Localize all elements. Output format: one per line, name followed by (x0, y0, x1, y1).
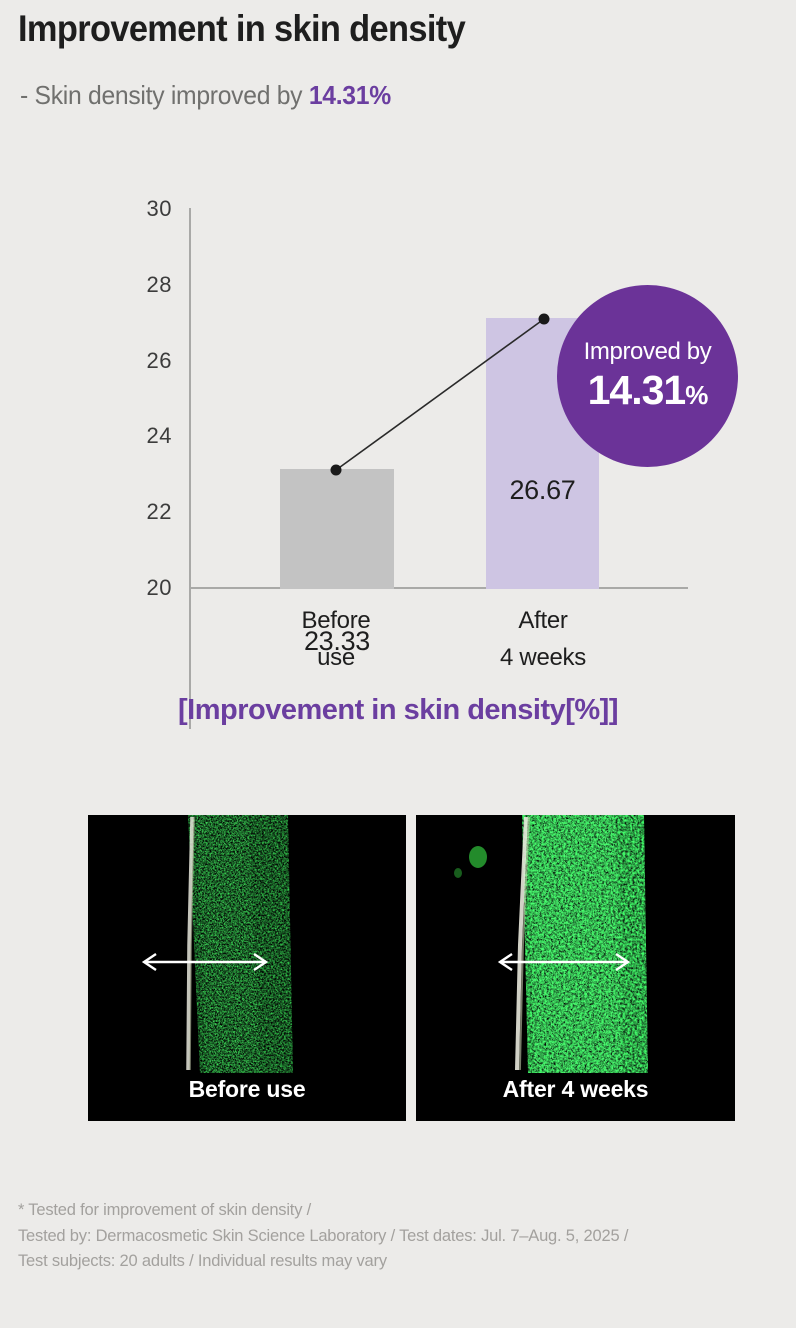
footnote-line-3: Test subjects: 20 adults / Individual re… (18, 1249, 778, 1275)
panel-after-4-weeks: After 4 weeks (416, 815, 735, 1121)
x-label-after-line2: 4 weeks (462, 639, 624, 676)
data-point-before (331, 465, 342, 476)
footnote-line-2: Tested by: Dermacosmetic Skin Science La… (18, 1224, 778, 1250)
x-label-after-line1: After (462, 602, 624, 639)
page-subtitle: - Skin density improved by 14.31% (20, 80, 391, 111)
badge-value-row: 14.31% (588, 368, 708, 413)
x-label-before-line1: Before (256, 602, 416, 639)
x-label-before-line2: use (256, 639, 416, 676)
bar-chart: 30 28 26 24 22 20 23.33 26.67 Improved b… (0, 140, 796, 760)
skin-density-report: Improvement in skin density - Skin densi… (0, 0, 796, 1328)
panel-before-use: Before use (88, 815, 406, 1121)
chart-caption: [Improvement in skin density[%]] (0, 694, 796, 727)
footnote-line-1: * Tested for improvement of skin density… (18, 1198, 778, 1224)
bar-before-use[interactable] (280, 469, 394, 589)
panel-caption-after: After 4 weeks (416, 1076, 735, 1103)
bar-value-after: 26.67 (486, 475, 599, 506)
page-title: Improvement in skin density (18, 8, 465, 50)
comparison-panels: Before use (0, 815, 796, 1121)
footnote: * Tested for improvement of skin density… (18, 1198, 778, 1275)
data-point-after (539, 314, 550, 325)
badge-unit: % (685, 380, 707, 410)
improvement-badge: Improved by 14.31% (557, 285, 738, 467)
badge-top-label: Improved by (584, 339, 712, 365)
x-label-after: After 4 weeks (462, 602, 624, 676)
subtitle-prefix: - Skin density improved by (20, 80, 309, 110)
subtitle-highlight: 14.31% (309, 80, 391, 110)
badge-value: 14.31 (588, 367, 686, 413)
x-label-before: Before use (256, 602, 416, 676)
panel-caption-before: Before use (88, 1076, 406, 1103)
